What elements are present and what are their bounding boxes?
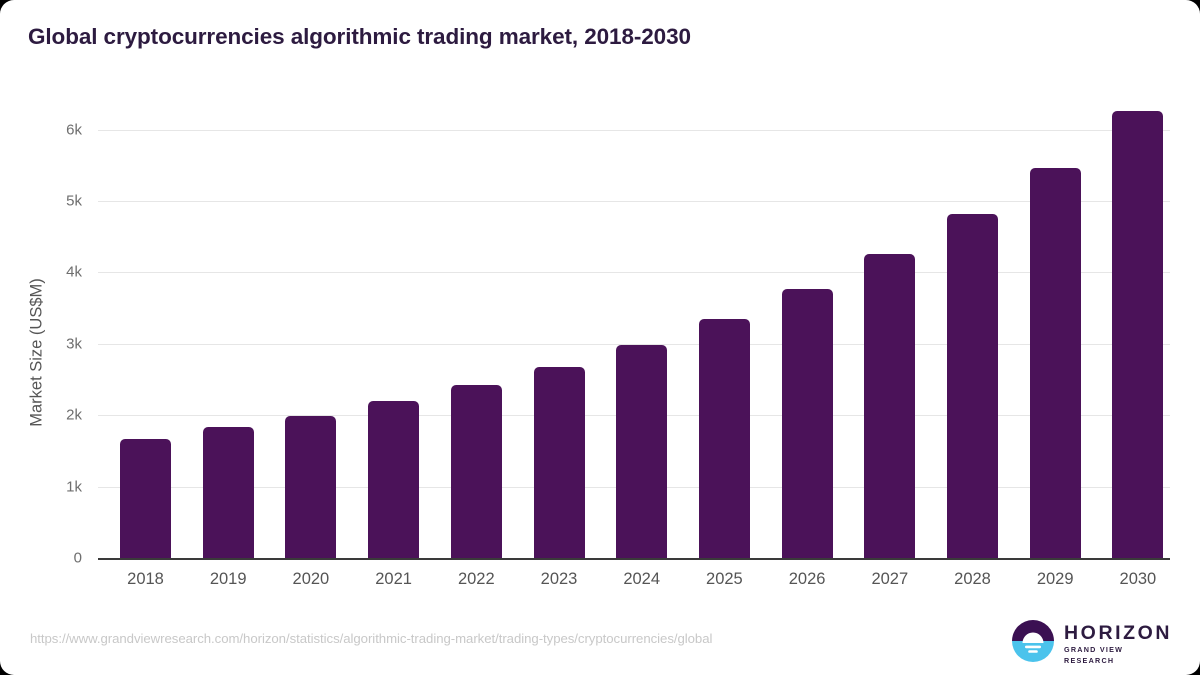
x-axis-tick-label: 2018: [101, 570, 191, 589]
bar-chart-plot-area: 01k2k3k4k5k6k Market Size (US$M) 2018201…: [0, 0, 1200, 675]
x-axis-tick-label: 2026: [762, 570, 852, 589]
bar-2022[interactable]: [451, 385, 502, 558]
bar-2026[interactable]: [782, 289, 833, 558]
x-axis-tick-label: 2023: [514, 570, 604, 589]
bar-2027[interactable]: [864, 254, 915, 558]
x-axis-line: [98, 558, 1170, 560]
bar-2020[interactable]: [285, 416, 336, 558]
y-axis-tick-label: 0: [22, 550, 82, 567]
y-axis-tick-label: 6k: [22, 121, 82, 138]
y-axis-title: Market Size (US$M): [28, 183, 47, 523]
x-axis-tick-label: 2022: [431, 570, 521, 589]
x-axis-tick-label: 2020: [266, 570, 356, 589]
bar-2019[interactable]: [203, 427, 254, 558]
horizon-logo-text: HORIZON GRAND VIEW RESEARCH: [1064, 623, 1168, 666]
x-axis-tick-label: 2030: [1093, 570, 1183, 589]
x-axis-tick-label: 2024: [597, 570, 687, 589]
bar-2030[interactable]: [1112, 111, 1163, 558]
bar-2024[interactable]: [616, 345, 667, 558]
bar-2023[interactable]: [534, 367, 585, 558]
horizon-logo-tagline: GRAND VIEW RESEARCH: [1064, 644, 1168, 666]
x-axis-tick-label: 2029: [1010, 570, 1100, 589]
gridline: [98, 201, 1170, 202]
bar-2021[interactable]: [368, 401, 419, 558]
x-axis-tick-label: 2027: [845, 570, 935, 589]
gridline: [98, 272, 1170, 273]
x-axis-tick-label: 2021: [349, 570, 439, 589]
source-url[interactable]: https://www.grandviewresearch.com/horizo…: [30, 631, 712, 646]
chart-card: Global cryptocurrencies algorithmic trad…: [0, 0, 1200, 675]
x-axis-tick-label: 2028: [928, 570, 1018, 589]
gridline: [98, 130, 1170, 131]
horizon-logo-mark-icon: [1012, 620, 1054, 662]
x-axis-tick-label: 2025: [679, 570, 769, 589]
bar-2029[interactable]: [1030, 168, 1081, 558]
horizon-logo-wordmark: HORIZON: [1064, 623, 1168, 644]
x-axis-tick-label: 2019: [183, 570, 273, 589]
bar-2028[interactable]: [947, 214, 998, 558]
bar-2018[interactable]: [120, 439, 171, 558]
horizon-logo[interactable]: HORIZON GRAND VIEW RESEARCH: [1012, 618, 1164, 664]
bar-2025[interactable]: [699, 319, 750, 558]
